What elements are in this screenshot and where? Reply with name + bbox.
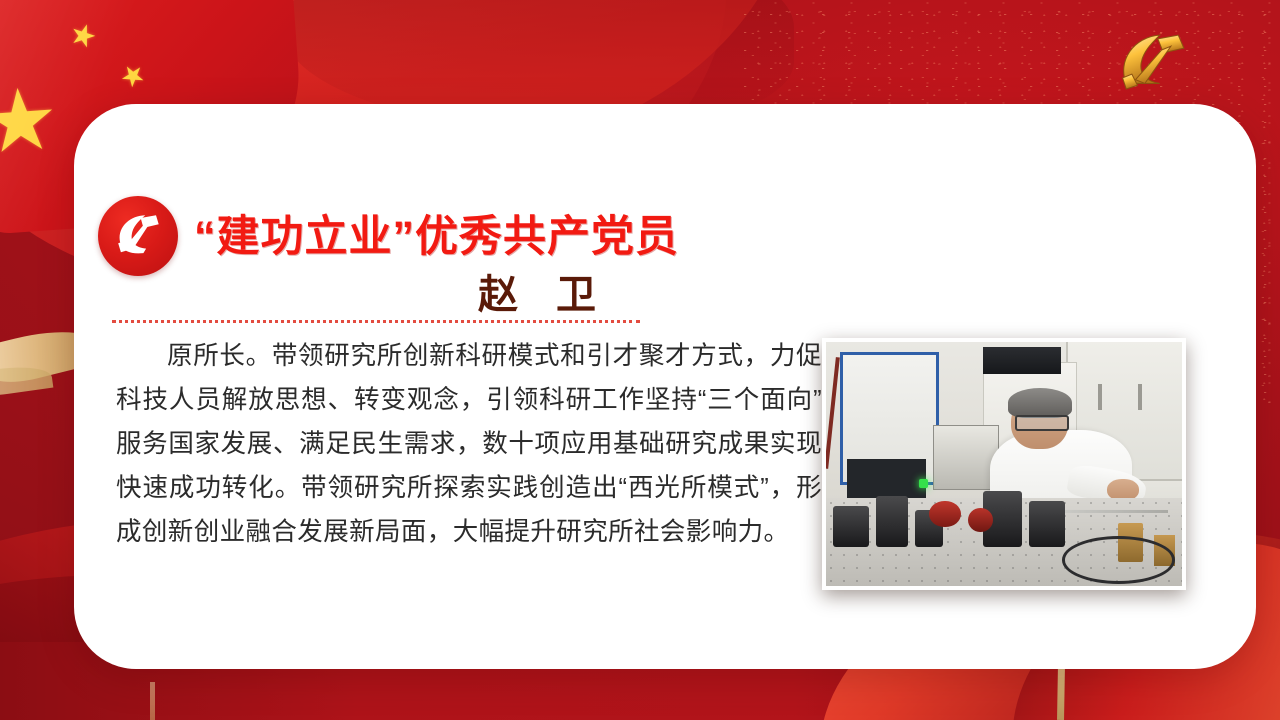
content-card: “建功立业”优秀共产党员 赵 卫 原所长。带领研究所创新科研模式和引才聚才方式，… [74, 104, 1256, 669]
optical-mount-2 [876, 496, 908, 547]
person-glasses [1015, 415, 1069, 431]
portrait-photo [822, 338, 1186, 590]
lab-instrument-top [983, 347, 1061, 374]
person-hair [1008, 388, 1072, 417]
page-title: “建功立业”优秀共产党员 [194, 202, 894, 264]
photo-scene [826, 342, 1182, 586]
flag-star-large: ★ [0, 76, 61, 167]
lab-green-indicator [919, 479, 928, 488]
gold-accent-bottom-left [150, 682, 155, 720]
party-emblem-icon [1108, 24, 1204, 102]
flag-star-small-2: ★ [114, 57, 151, 95]
slide-root: ★ ★ ★ ★ ★ [0, 0, 1280, 720]
person-name: 赵 卫 [194, 262, 894, 320]
optical-mount-1 [833, 506, 869, 547]
party-badge-icon [98, 196, 178, 276]
divider [112, 320, 640, 323]
biography-text: 原所长。带领研究所创新科研模式和引才聚才方式，力促科技人员解放思想、转变观念，引… [116, 334, 822, 554]
flag-star-small-1: ★ [66, 18, 101, 55]
optical-ring [1062, 536, 1175, 583]
optical-rod [1047, 510, 1168, 513]
optical-mount-5 [1029, 501, 1065, 547]
lab-instrument-rack [933, 425, 999, 490]
